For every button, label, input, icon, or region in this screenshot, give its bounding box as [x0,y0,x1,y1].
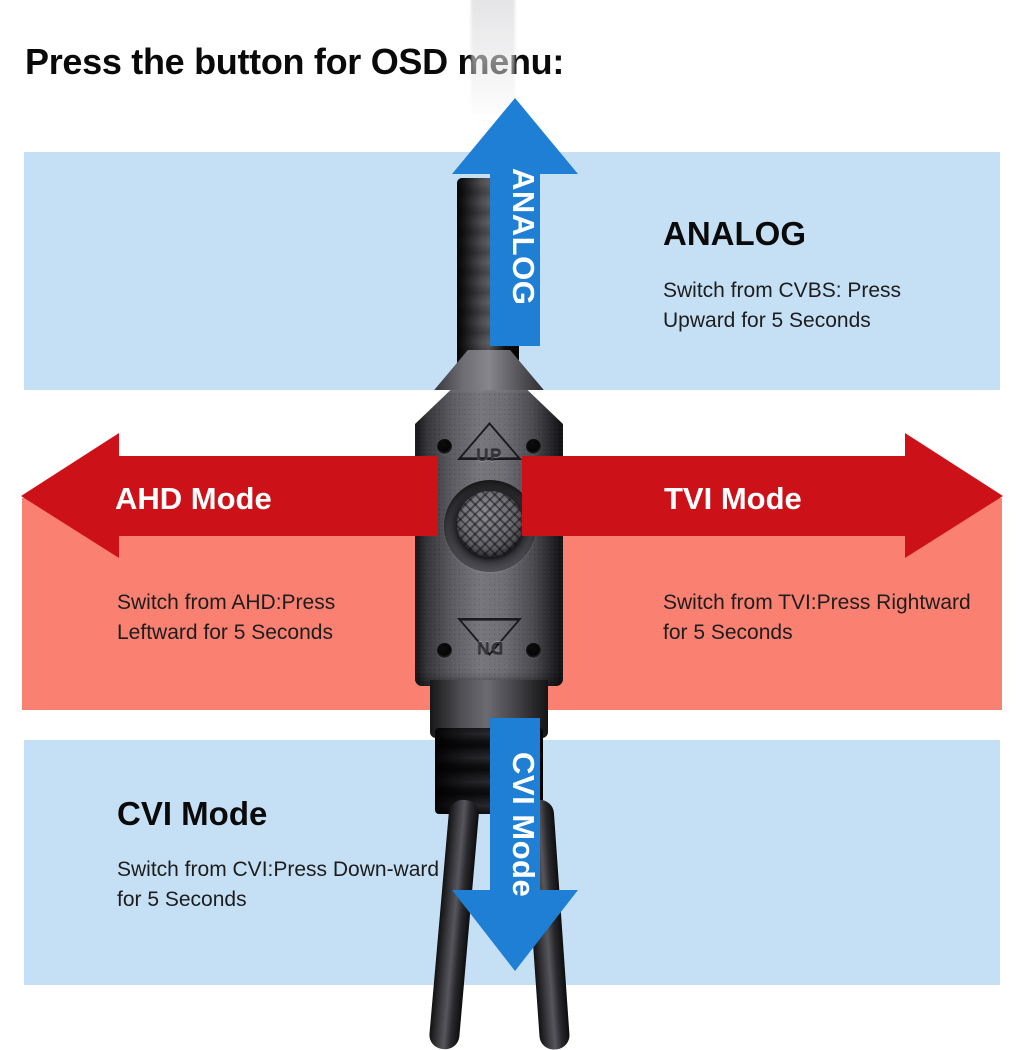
infographic-canvas: Press the button for OSD menu: UP DN [0,0,1024,1024]
screw-hole-bottom-right [526,643,541,658]
ahd-description: Switch from AHD:Press Leftward for 5 Sec… [117,588,417,648]
up-marker-label: UP [457,446,522,466]
tvi-arrow-label: TVI Mode [664,481,802,517]
cvi-arrow-label: CVI Mode [505,752,541,897]
analog-heading: ANALOG [663,215,806,253]
joystick-button[interactable] [457,491,523,557]
screw-hole-top-left [437,439,452,454]
analog-description: Switch from CVBS: Press Upward for 5 Sec… [663,276,963,336]
ahd-arrow-label: AHD Mode [115,481,272,517]
down-marker-label: DN [457,637,522,657]
cvi-heading: CVI Mode [117,795,267,833]
analog-arrow-label: ANALOG [505,168,541,305]
cvi-description: Switch from CVI:Press Down-ward for 5 Se… [117,855,447,915]
tvi-description: Switch from TVI:Press Rightward for 5 Se… [663,588,983,648]
screw-hole-bottom-left [437,643,452,658]
